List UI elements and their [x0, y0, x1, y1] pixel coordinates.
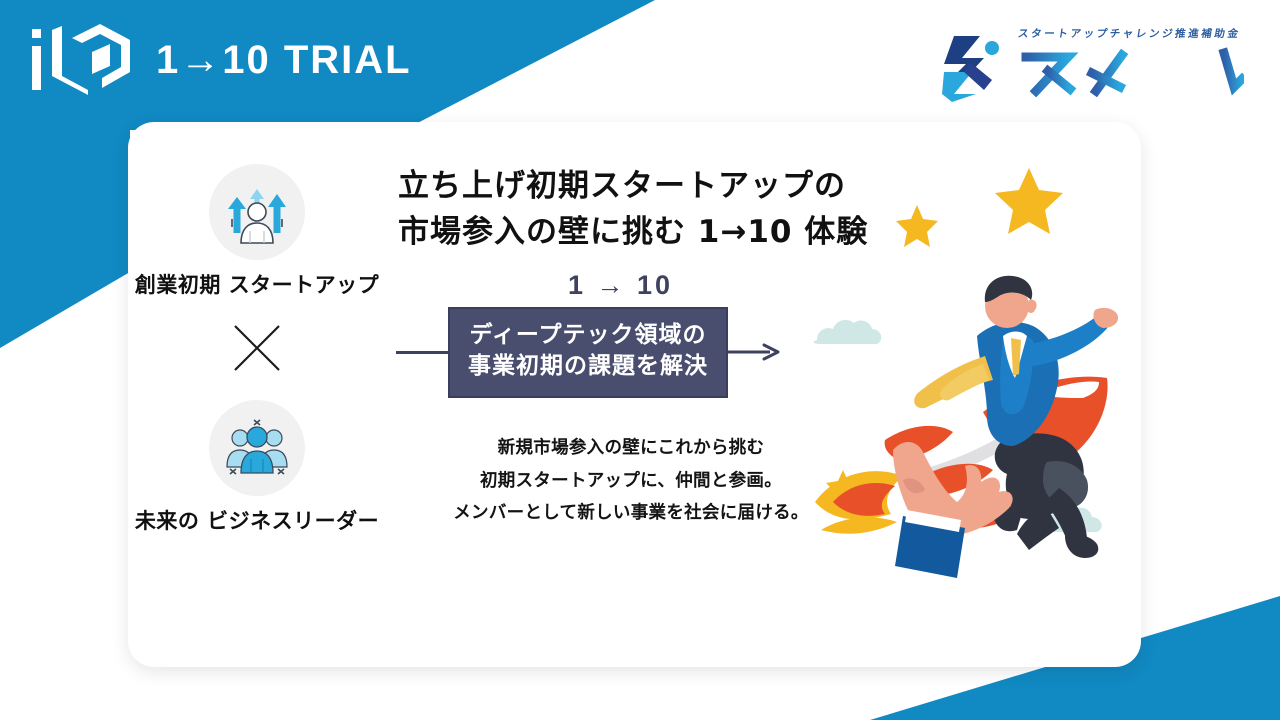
sutachare-ribbon-mark-icon: [940, 32, 1010, 106]
sponsor-name-wordmark: [1018, 43, 1244, 99]
brand-lockup: 1→10 TRIAL: [26, 24, 412, 96]
sponsor-kicker-text: スタートアップチャレンジ推進補助金: [1017, 26, 1245, 41]
person-with-growth-arrows-icon: [209, 164, 305, 260]
audience-label-startup: 創業初期 スタートアップ: [135, 272, 379, 300]
headline: 立ち上げ初期スタートアップの 市場参入の壁に挑む 1→10 体験: [386, 164, 1141, 256]
page-title: 1→10 TRIAL: [156, 40, 412, 80]
one-to-ten-caption: 1 → 10: [386, 270, 1141, 301]
flow-connector-line: [396, 351, 448, 354]
audience-block-startup: 創業初期 スタートアップ: [135, 164, 379, 300]
slide-canvas: 1→10 TRIAL スタートアップチャレンジ推進補助金: [0, 0, 1280, 720]
cross-multiply-icon: [231, 322, 283, 374]
flow-row: ディープテック領域の 事業初期の課題を解決: [386, 307, 1141, 398]
main-content-column: 立ち上げ初期スタートアップの 市場参入の壁に挑む 1→10 体験 1 → 10 …: [386, 122, 1141, 667]
ilo-hexagon-logo-icon: [26, 24, 138, 96]
body-paragraph: 新規市場参入の壁にこれから挑む 初期スタートアップに、仲間と参画。 メンバーとし…: [386, 432, 856, 529]
audience-label-leader: 未来の ビジネスリーダー: [135, 508, 379, 536]
sponsor-logo: スタートアップチャレンジ推進補助金: [940, 26, 1244, 106]
deeptech-callout-box: ディープテック領域の 事業初期の課題を解決: [448, 307, 728, 398]
content-card: 創業初期 スタートアップ: [128, 122, 1141, 667]
audience-column: 創業初期 スタートアップ: [128, 122, 386, 667]
group-of-people-icon: [209, 400, 305, 496]
audience-block-leader: 未来の ビジネスリーダー: [135, 400, 379, 536]
arrow-right-icon: [728, 342, 782, 362]
